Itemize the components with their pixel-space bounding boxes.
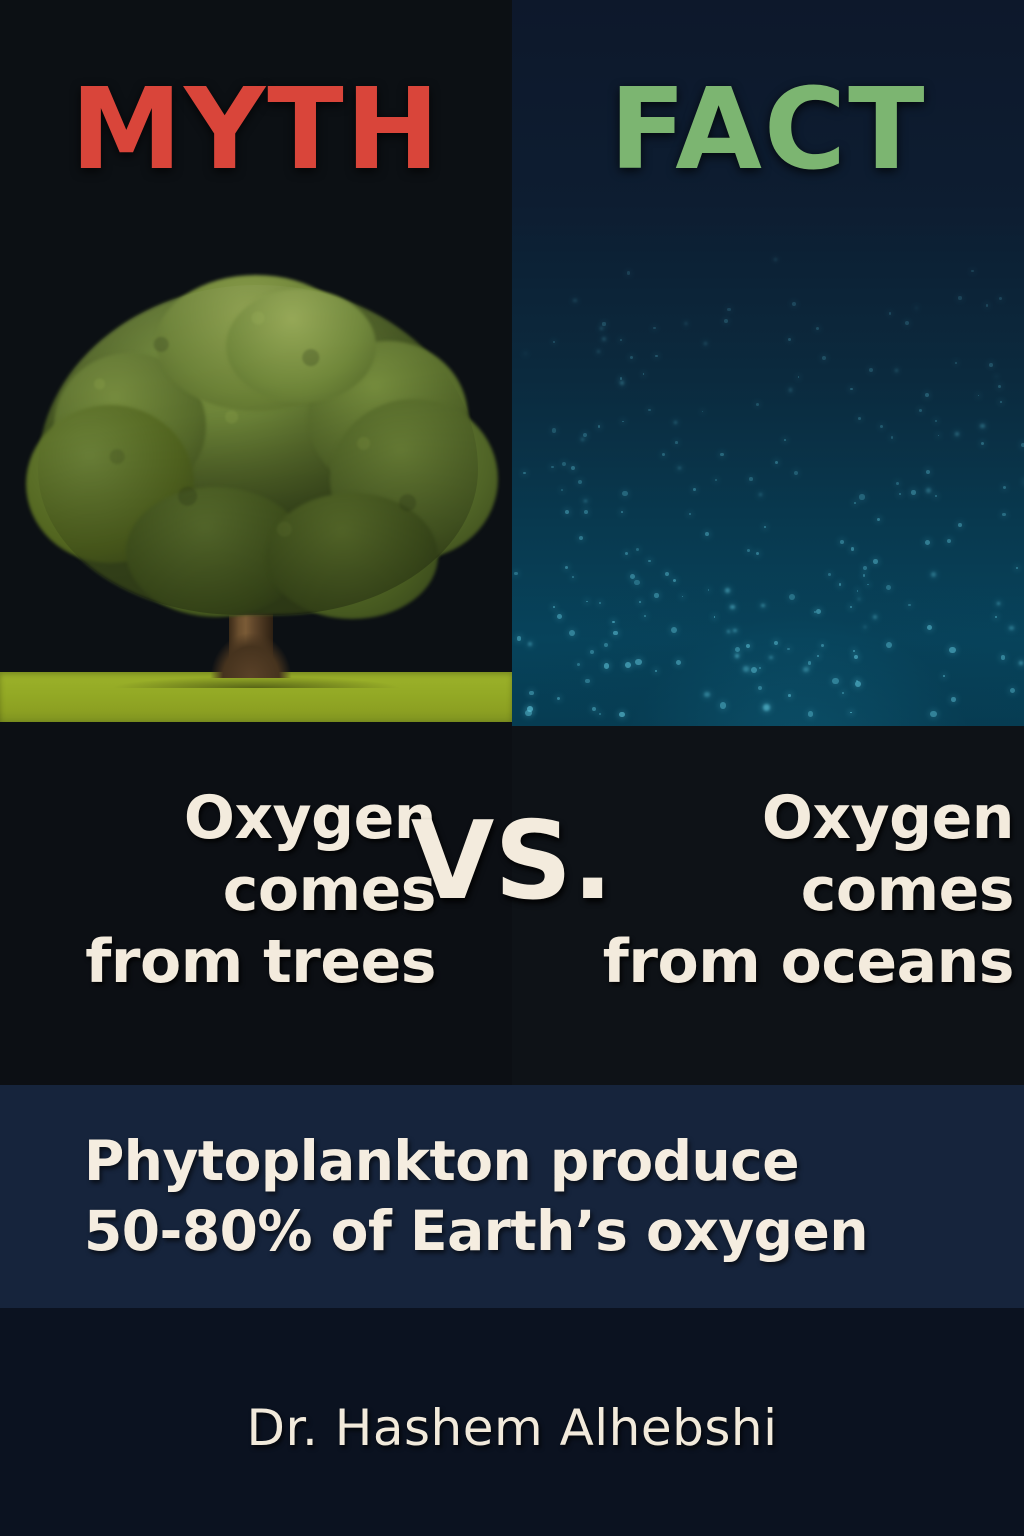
- plankton-dot: [715, 479, 717, 481]
- plankton-dot: [863, 574, 866, 577]
- plankton-dot: [891, 436, 893, 438]
- fact-statistic-line: 50-80% of Earth’s oxygen: [84, 1197, 940, 1266]
- plankton-dot: [784, 439, 787, 442]
- plankton-dot: [525, 353, 527, 355]
- plankton-dot: [562, 462, 566, 466]
- plankton-dot: [822, 356, 826, 360]
- plankton-dot: [620, 339, 622, 341]
- plankton-dot: [1001, 655, 1006, 660]
- plankton-dot: [678, 467, 680, 469]
- plankton-dot: [759, 667, 761, 669]
- plankton-dot: [523, 472, 526, 475]
- plankton-dot: [947, 539, 951, 543]
- plankton-dot: [682, 596, 684, 598]
- plankton-dot: [886, 642, 892, 648]
- plankton-dot: [863, 566, 867, 570]
- plankton-dot: [725, 588, 730, 593]
- plankton-dot: [817, 655, 819, 657]
- plankton-dot: [999, 297, 1002, 300]
- hero-split: MYTH FACT: [0, 0, 1024, 726]
- plankton-dot: [569, 630, 575, 636]
- plankton-dot: [996, 376, 998, 378]
- plankton-dot: [981, 442, 984, 445]
- fact-statement: Oxygen comes from oceans: [572, 782, 1014, 998]
- plankton-dot: [1000, 401, 1002, 403]
- plankton-dot: [853, 650, 855, 652]
- plankton-dot: [980, 424, 985, 429]
- plankton-dot: [622, 491, 627, 496]
- plankton-dot: [743, 666, 749, 672]
- plankton-dot: [850, 606, 852, 608]
- author-footer: Dr. Hashem Alhebshi: [0, 1308, 1024, 1536]
- plankton-dot: [693, 488, 696, 491]
- plankton-dot: [625, 552, 628, 555]
- plankton-dot: [808, 661, 812, 665]
- plankton-dot: [702, 411, 704, 413]
- plankton-dot: [599, 602, 601, 604]
- plankton-dot: [590, 650, 594, 654]
- plankton-dot: [864, 626, 866, 628]
- plankton-dot: [643, 373, 645, 375]
- plankton-dot: [761, 604, 765, 608]
- infographic-poster: MYTH FACT Oxygen comes from trees Oxygen…: [0, 0, 1024, 1536]
- plankton-dot: [916, 307, 918, 309]
- grass-strip: [0, 672, 512, 722]
- myth-statement-line: from trees: [40, 926, 436, 998]
- plankton-dot: [978, 395, 980, 397]
- plankton-dot: [653, 327, 656, 330]
- plankton-dot: [665, 572, 669, 576]
- plankton-dot: [552, 428, 557, 433]
- plankton-dot: [584, 510, 588, 514]
- fact-label: FACT: [512, 74, 1024, 186]
- plankton-dot: [788, 694, 791, 697]
- plankton-dot: [581, 438, 584, 441]
- plankton-dot: [572, 576, 574, 578]
- plankton-dot: [899, 493, 902, 496]
- plankton-dot: [998, 385, 1001, 388]
- plankton-dot: [756, 403, 759, 406]
- plankton-dot: [842, 692, 844, 694]
- plankton-dot: [816, 327, 820, 331]
- plankton-dot: [551, 466, 554, 469]
- plankton-dot: [1003, 486, 1006, 489]
- plankton-dot: [662, 453, 665, 456]
- plankton-dot: [527, 706, 533, 712]
- plankton-dot: [636, 548, 639, 551]
- plankton-dot: [850, 712, 852, 714]
- plankton-dot: [708, 589, 710, 591]
- plankton-dot: [1010, 688, 1016, 694]
- plankton-dot: [955, 362, 957, 364]
- plankton-dot: [620, 377, 622, 379]
- plankton-dot: [639, 601, 641, 603]
- plankton-dot: [627, 271, 630, 274]
- fact-statement-line: Oxygen: [572, 782, 1014, 854]
- plankton-dot: [578, 480, 582, 484]
- plankton-dot: [930, 711, 937, 718]
- plankton-dot: [880, 425, 883, 428]
- plankton-dot: [858, 417, 861, 420]
- plankton-dot: [517, 636, 521, 640]
- plankton-dot: [733, 629, 736, 632]
- plankton-dot: [730, 605, 735, 610]
- plankton-dot: [604, 663, 610, 669]
- plankton-dot: [600, 327, 603, 330]
- plankton-dot: [655, 670, 657, 672]
- plankton-dot: [943, 675, 945, 677]
- myth-label: MYTH: [0, 74, 512, 186]
- plankton-dot: [673, 579, 676, 582]
- plankton-dot: [919, 409, 922, 412]
- plankton-dot: [676, 660, 681, 665]
- plankton-dot: [749, 477, 753, 481]
- plankton-dot: [557, 697, 560, 700]
- tree-illustration: [0, 256, 512, 726]
- plankton-dot: [775, 461, 778, 464]
- plankton-dot: [634, 580, 640, 586]
- plankton-dot: [840, 540, 844, 544]
- plankton-dot: [931, 572, 936, 577]
- plankton-dot: [704, 692, 710, 698]
- plankton-dot: [604, 643, 608, 647]
- plankton-dot: [613, 631, 618, 636]
- plankton-dot: [774, 641, 778, 645]
- myth-statement-line: comes: [40, 854, 436, 926]
- plankton-dot: [553, 341, 555, 343]
- plankton-dot: [821, 644, 824, 647]
- plankton-dot: [573, 299, 577, 303]
- plankton-dot: [747, 549, 750, 552]
- plankton-dot: [735, 647, 740, 652]
- plankton-dot: [584, 500, 587, 503]
- plankton-dot: [794, 471, 798, 475]
- plankton-dot: [828, 573, 831, 576]
- plankton-dot: [759, 493, 762, 496]
- plankton-dot: [951, 697, 956, 702]
- plankton-dot: [854, 655, 858, 659]
- plankton-dot: [949, 647, 956, 654]
- plankton-dot: [579, 536, 583, 540]
- tree-canopy-icon: [30, 279, 485, 627]
- plankton-dot: [816, 609, 821, 614]
- plankton-dot: [586, 601, 588, 603]
- plankton-dot: [798, 376, 800, 378]
- plankton-dot: [565, 566, 569, 570]
- plankton-dot: [625, 662, 631, 668]
- plankton-dot: [855, 681, 861, 687]
- plankton-dot: [908, 604, 910, 606]
- myth-statement: Oxygen comes from trees: [40, 782, 436, 998]
- author-name: Dr. Hashem Alhebshi: [246, 1403, 777, 1453]
- plankton-dot: [751, 667, 757, 673]
- plankton-dot: [597, 350, 600, 353]
- plankton-dot: [859, 494, 864, 499]
- plankton-dot: [763, 704, 770, 711]
- myth-statement-line: Oxygen: [40, 782, 436, 854]
- plankton-dot: [553, 606, 555, 608]
- plankton-dot: [599, 713, 601, 715]
- plankton-dot: [689, 513, 691, 515]
- plankton-dot: [514, 572, 517, 575]
- plankton-dot: [583, 433, 587, 437]
- plankton-dot: [896, 482, 899, 485]
- fact-statement-line: from oceans: [572, 926, 1014, 998]
- plankton-dot: [758, 686, 762, 690]
- plankton-dot: [803, 667, 808, 672]
- plankton-dot: [867, 584, 869, 586]
- plankton-dot: [927, 625, 933, 631]
- plankton-dot: [911, 490, 916, 495]
- plankton-dot: [561, 489, 564, 492]
- plankton-dot: [557, 614, 562, 619]
- plankton-dot: [789, 594, 795, 600]
- plankton-dot: [528, 642, 532, 646]
- plankton-dot: [635, 659, 641, 665]
- plankton-dot: [873, 559, 878, 564]
- plankton-dot: [889, 312, 891, 314]
- plankton-dot: [995, 616, 997, 618]
- plankton-dot: [854, 502, 856, 504]
- versus-badge: VS.: [411, 808, 613, 916]
- hero-panel-myth: MYTH: [0, 0, 512, 726]
- plankton-dot: [630, 356, 633, 359]
- plankton-dot: [787, 648, 790, 651]
- plankton-dot: [648, 560, 650, 562]
- plankton-dot: [792, 302, 796, 306]
- plankton-dot: [958, 523, 962, 527]
- plankton-dot: [925, 540, 930, 545]
- plankton-dot: [851, 547, 855, 551]
- plankton-dot: [571, 466, 575, 470]
- plankton-dot: [602, 322, 605, 325]
- plankton-dot: [735, 654, 739, 658]
- plankton-dot: [958, 296, 961, 299]
- plankton-dot: [986, 304, 988, 306]
- plankton-dot: [674, 421, 677, 424]
- plankton-dot: [648, 409, 651, 412]
- plankton-dot: [714, 616, 716, 618]
- plankton-dot: [769, 656, 773, 660]
- plankton-dot: [1019, 661, 1023, 665]
- plankton-dot: [895, 369, 898, 372]
- plankton-dot: [989, 363, 993, 367]
- plankton-dot: [602, 337, 606, 341]
- plankton-dot: [935, 495, 937, 497]
- plankton-dot: [746, 644, 750, 648]
- plankton-dot: [926, 488, 931, 493]
- plankton-dot: [612, 621, 615, 624]
- plankton-dot: [654, 593, 659, 598]
- plankton-dot: [577, 663, 580, 666]
- plankton-dot: [620, 381, 625, 386]
- plankton-dot: [720, 702, 727, 709]
- plankton-dot: [619, 712, 625, 718]
- plankton-dot: [565, 510, 569, 514]
- plankton-dot: [621, 511, 623, 513]
- plankton-dot: [789, 388, 793, 392]
- fact-statement-line: comes: [572, 854, 1014, 926]
- plankton-dot: [675, 441, 678, 444]
- plankton-dot: [886, 585, 892, 591]
- plankton-dot: [971, 270, 974, 273]
- plankton-dot: [724, 319, 728, 323]
- fact-statistic-banner: Phytoplankton produce 50-80% of Earth’s …: [0, 1085, 1024, 1308]
- plankton-dot: [850, 388, 853, 391]
- plankton-dot: [808, 711, 814, 717]
- plankton-dot: [756, 552, 759, 555]
- plankton-dot: [832, 678, 838, 684]
- plankton-dot: [704, 342, 707, 345]
- plankton-dot: [938, 435, 940, 437]
- plankton-dot: [873, 615, 877, 619]
- plankton-dot: [585, 679, 590, 684]
- plankton-dot: [857, 590, 859, 592]
- plankton-dot: [630, 574, 635, 579]
- plankton-dot: [705, 532, 709, 536]
- plankton-dot: [644, 615, 646, 617]
- plankton-dot: [935, 420, 937, 422]
- plankton-dot: [858, 598, 861, 601]
- plankton-dot: [905, 321, 909, 325]
- plankton-dot: [598, 425, 601, 428]
- plankton-dot: [955, 432, 959, 436]
- plankton-dot: [727, 308, 730, 311]
- plankton-dot: [1016, 567, 1018, 569]
- canopy-shading: [38, 285, 478, 615]
- plankton-dot: [997, 602, 1000, 605]
- hero-panel-fact: FACT: [512, 0, 1024, 726]
- plankton-dot: [685, 322, 688, 325]
- plankton-dot: [925, 393, 929, 397]
- plankton-dot: [655, 355, 658, 358]
- plankton-dot: [926, 470, 930, 474]
- plankton-dot: [877, 518, 880, 521]
- plankton-dot: [1009, 626, 1013, 630]
- plankton-dot: [727, 630, 730, 633]
- plankton-dot: [774, 258, 777, 261]
- plankton-dot: [720, 453, 724, 457]
- plankton-dot: [671, 627, 677, 633]
- plankton-dot: [592, 707, 596, 711]
- plankton-dot: [839, 583, 842, 586]
- plankton-dot: [1002, 513, 1006, 517]
- plankton-dot: [869, 368, 873, 372]
- plankton-dot: [788, 338, 791, 341]
- fact-statistic-line: Phytoplankton produce: [84, 1127, 940, 1196]
- fact-statistic-text: Phytoplankton produce 50-80% of Earth’s …: [0, 1127, 1024, 1266]
- plankton-dot: [529, 691, 533, 695]
- plankton-dot: [622, 421, 624, 423]
- plankton-dot: [764, 526, 766, 528]
